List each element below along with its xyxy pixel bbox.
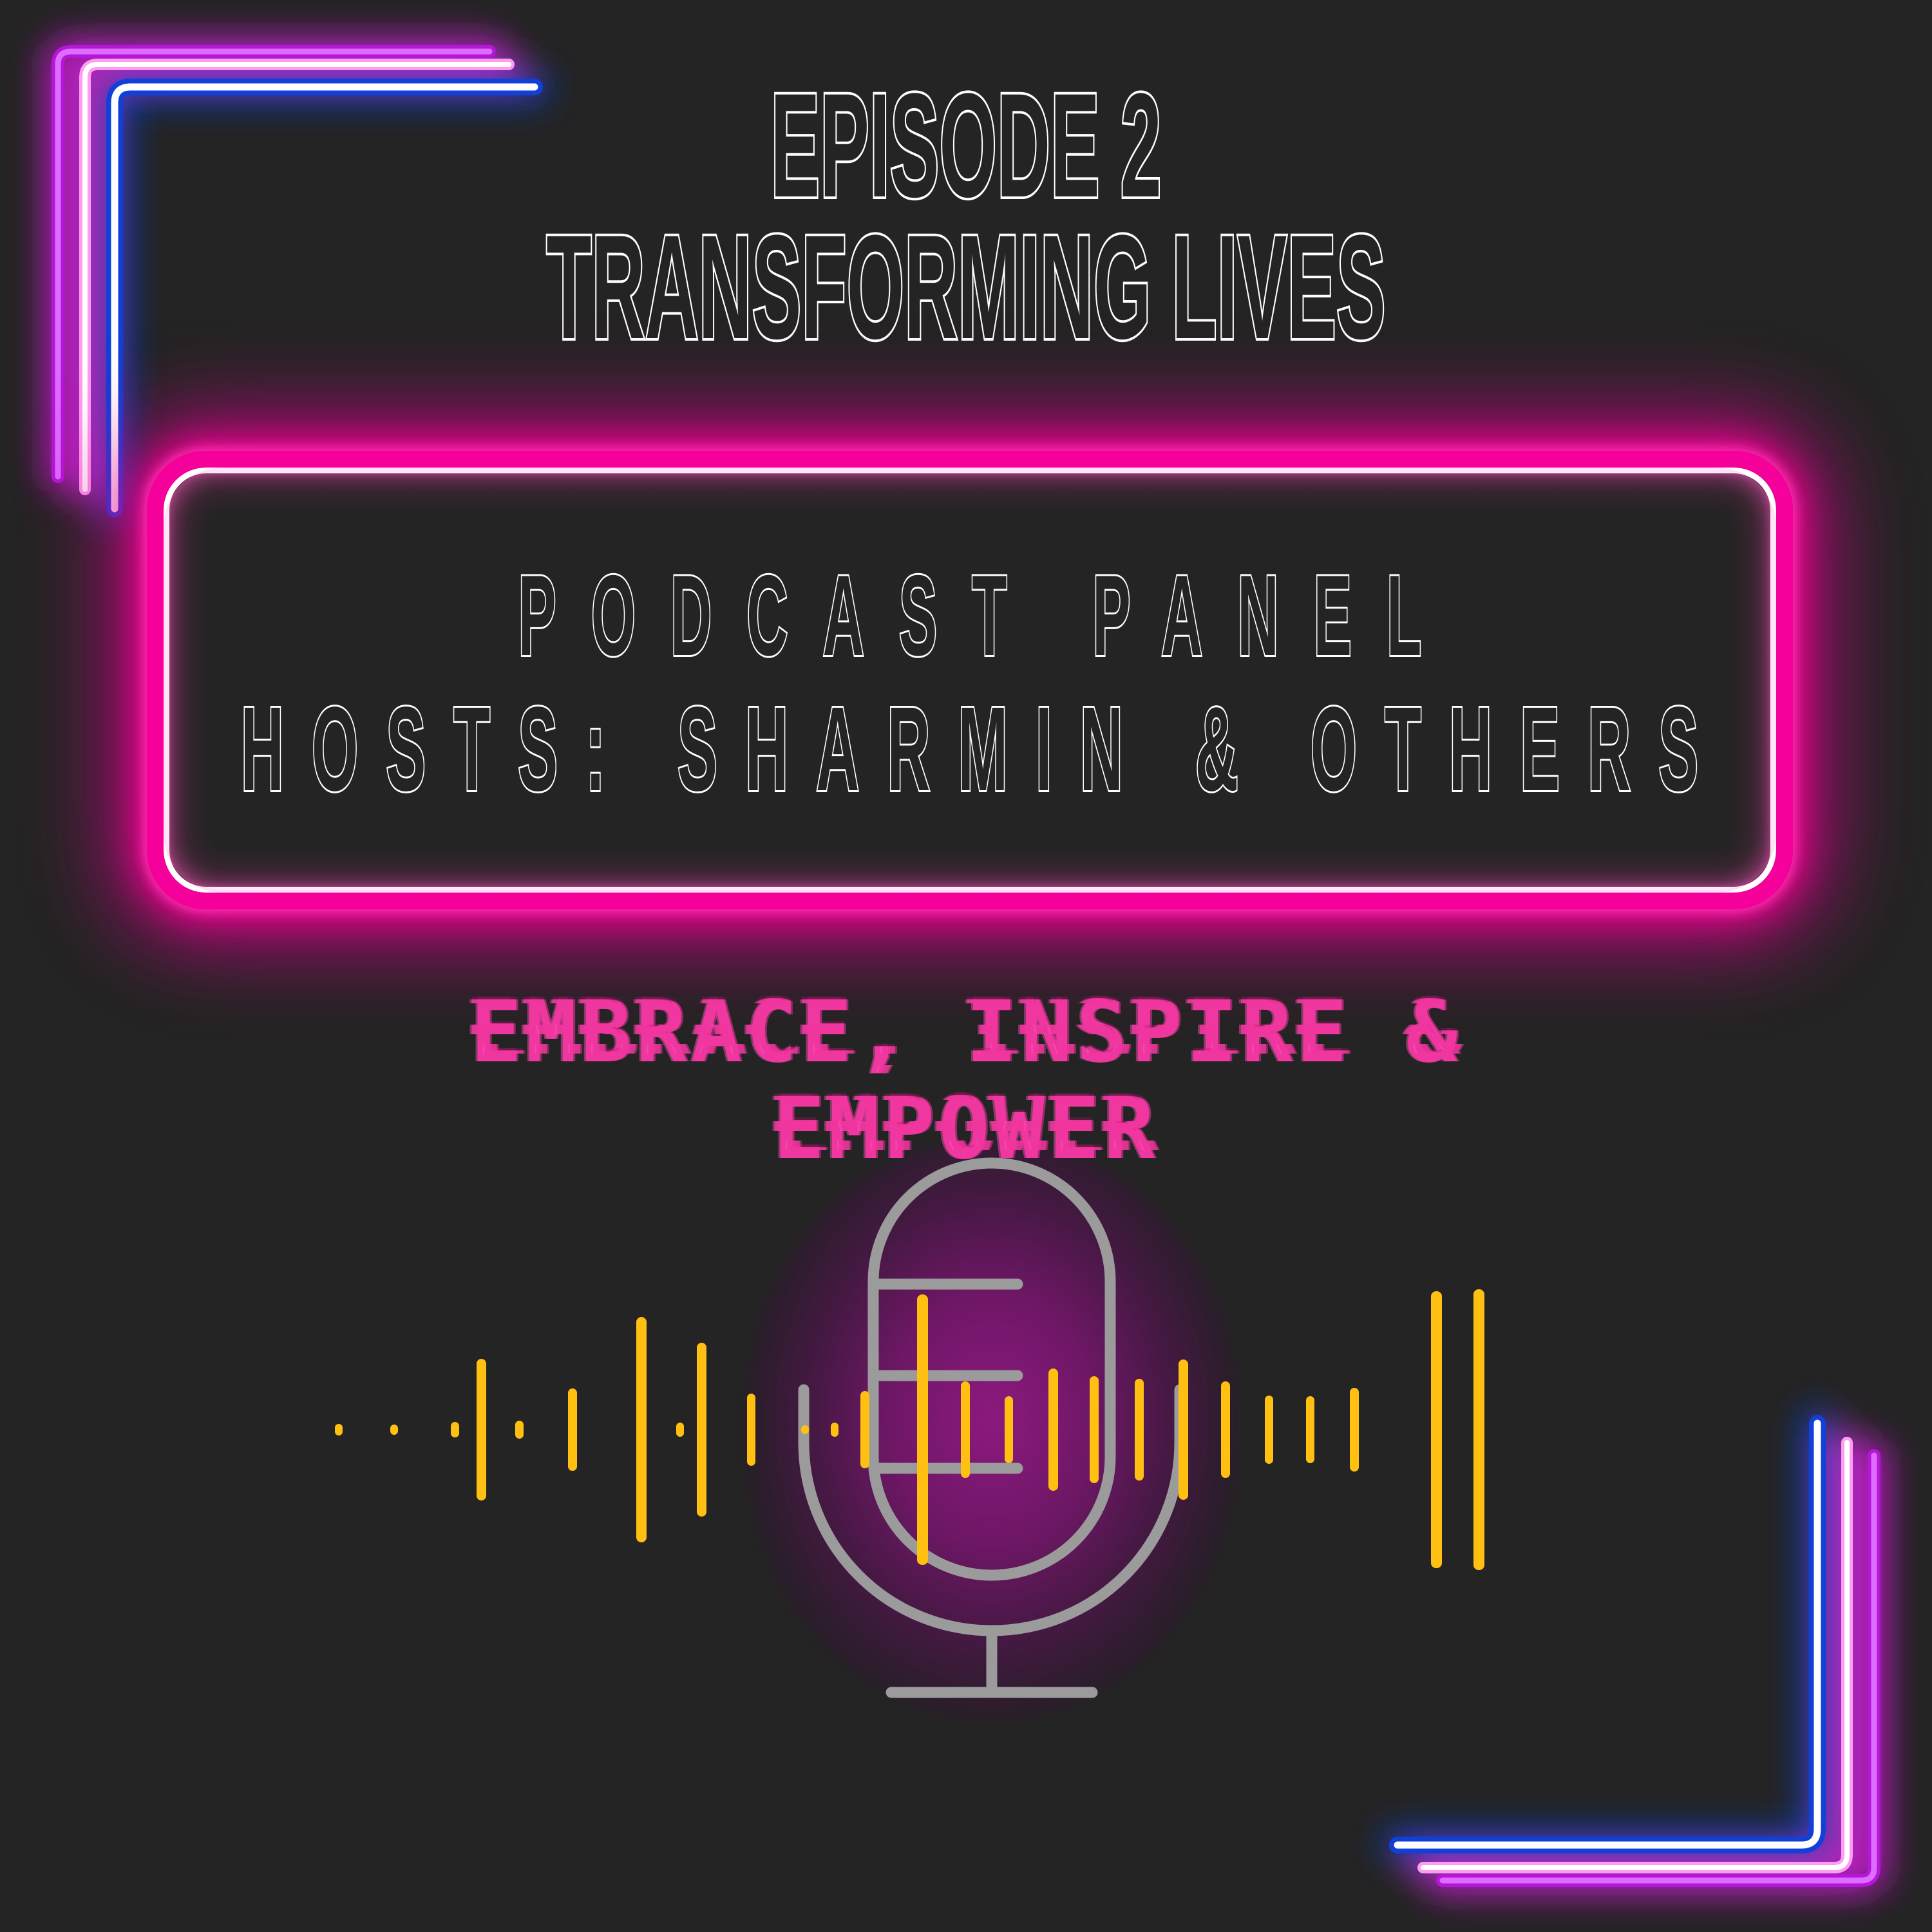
- waveform-bar: [1090, 1376, 1099, 1483]
- waveform-bar: [390, 1425, 398, 1435]
- waveform-bar: [477, 1359, 486, 1501]
- waveform-bar: [636, 1317, 647, 1542]
- episode-title: TRANSFORMING LIVES: [483, 214, 1449, 359]
- corner-bracket-bottom-right: [1378, 1378, 1932, 1932]
- panel-label: PODCAST PANEL: [484, 567, 1457, 664]
- waveform-bar: [1350, 1388, 1359, 1472]
- waveform-bar: [451, 1422, 459, 1437]
- waveform-bar: [801, 1425, 809, 1434]
- waveform-bar: [860, 1391, 869, 1468]
- waveform-bar: [1048, 1368, 1058, 1491]
- tagline-line-1: EMBRACE, INSPIRE &: [0, 984, 1932, 1081]
- episode-label: EPISODE 2: [483, 76, 1449, 214]
- waveform-bar: [747, 1394, 755, 1466]
- bracket-line-inner: [1397, 1423, 1817, 1845]
- tagline-line-2: EMPOWER: [0, 1081, 1932, 1177]
- tagline: EMBRACE, INSPIRE & EMPOWER: [0, 984, 1932, 1177]
- waveform-bar: [676, 1423, 684, 1437]
- waveform-bar: [1135, 1379, 1144, 1481]
- podcast-poster: EPISODE 2 TRANSFORMING LIVES PODCAST PAN…: [0, 0, 1932, 1932]
- neon-frame-text: PODCAST PANEL HOSTS: SHARMIN & OTHERS: [147, 502, 1793, 863]
- waveform-bar: [1306, 1396, 1314, 1463]
- title-block: EPISODE 2 TRANSFORMING LIVES: [0, 76, 1932, 359]
- waveform-bar: [1179, 1359, 1188, 1500]
- waveform-bar: [568, 1388, 577, 1471]
- waveform-bar: [1221, 1381, 1230, 1478]
- waveform-bar: [1005, 1396, 1013, 1463]
- waveform-bar: [1265, 1396, 1273, 1464]
- waveform-bar: [335, 1424, 343, 1435]
- waveform-bar: [917, 1294, 928, 1565]
- hosts-label: HOSTS: SHARMIN & OTHERS: [213, 701, 1727, 798]
- waveform-bar: [831, 1423, 838, 1437]
- waveform-bar: [515, 1421, 524, 1439]
- waveform-bar: [961, 1381, 970, 1478]
- waveform-bar: [697, 1343, 706, 1517]
- bracket-line-middle: [1423, 1443, 1847, 1868]
